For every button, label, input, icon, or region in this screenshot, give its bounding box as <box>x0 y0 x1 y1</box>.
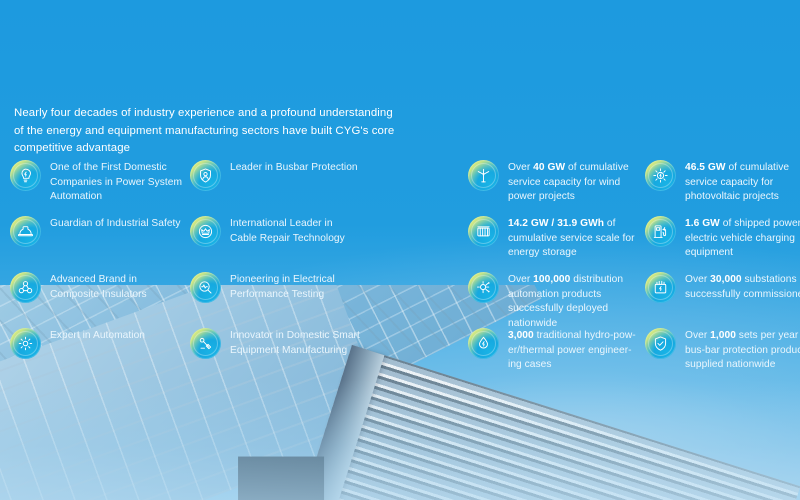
hydro-thermal-power-icon <box>468 328 499 359</box>
feature-item[interactable]: Pioneering in ElectricalPerformance Test… <box>190 272 370 328</box>
magnifier-waveform-icon <box>190 272 221 303</box>
feature-item[interactable]: 46.5 GW of cumulativeservice capacity fo… <box>645 160 800 216</box>
feature-item-label: 1.6 GW of shipped power forelectric vehi… <box>685 216 800 261</box>
intro-line-2: of the energy and equipment manufacturin… <box>14 123 364 141</box>
feature-item[interactable]: Over 40 GW of cumulativeservice capacity… <box>468 160 643 216</box>
feature-item-label: Over 1,000 sets per year ofbus-bar prote… <box>685 328 800 373</box>
energy-storage-icon <box>468 216 499 247</box>
robot-arm-icon <box>190 328 221 359</box>
feature-item-label: One of the First DomesticCompanies in Po… <box>50 160 182 205</box>
ev-charging-icon <box>645 216 676 247</box>
feature-item-label: 3,000 traditional hydro-pow-er/thermal p… <box>508 328 636 373</box>
intro-line-3: competitive advantage <box>14 140 364 158</box>
feature-item[interactable]: 3,000 traditional hydro-pow-er/thermal p… <box>468 328 643 384</box>
feature-item-label: Over 40 GW of cumulativeservice capacity… <box>508 160 629 205</box>
feature-item-label: 46.5 GW of cumulativeservice capacity fo… <box>685 160 789 205</box>
feature-item-label: 14.2 GW / 31.9 GWh ofcumulative service … <box>508 216 635 261</box>
distribution-automation-icon <box>468 272 499 303</box>
feature-item-label: Leader in Busbar Protection <box>230 160 358 176</box>
wind-turbine-icon <box>468 160 499 191</box>
feature-item[interactable]: Over 30,000 substationssuccessfully comm… <box>645 272 800 328</box>
composite-insulator-icon <box>10 272 41 303</box>
power-system-automation-icon <box>10 160 41 191</box>
feature-column-stats-left: Over 40 GW of cumulativeservice capacity… <box>468 160 643 384</box>
photovoltaic-sun-icon <box>645 160 676 191</box>
feature-column-credentials-left: One of the First DomesticCompanies in Po… <box>10 160 190 384</box>
feature-item-label: Guardian of Industrial Safety <box>50 216 181 232</box>
busbar-protection-icon <box>190 160 221 191</box>
feature-item-label: Innovator in Domestic SmartEquipment Man… <box>230 328 360 358</box>
feature-column-stats-right: 46.5 GW of cumulativeservice capacity fo… <box>645 160 800 384</box>
feature-item-label: Over 30,000 substationssuccessfully comm… <box>685 272 800 302</box>
feature-item[interactable]: Advanced Brand inComposite Insulators <box>10 272 190 328</box>
feature-item[interactable]: Guardian of Industrial Safety <box>10 216 190 272</box>
substation-icon <box>645 272 676 303</box>
feature-item[interactable]: Over 1,000 sets per year ofbus-bar prote… <box>645 328 800 384</box>
intro-line-1: Nearly four decades of industry experien… <box>14 105 364 123</box>
feature-item[interactable]: 14.2 GW / 31.9 GWh ofcumulative service … <box>468 216 643 272</box>
feature-item[interactable]: Leader in Busbar Protection <box>190 160 370 216</box>
feature-item[interactable]: Over 100,000 distributionautomation prod… <box>468 272 643 328</box>
feature-item[interactable]: Expert in Automation <box>10 328 190 384</box>
feature-item-label: International Leader inCable Repair Tech… <box>230 216 345 246</box>
atmospheric-haze <box>0 380 800 500</box>
infographic-canvas: Nearly four decades of industry experien… <box>0 0 800 500</box>
feature-item[interactable]: International Leader inCable Repair Tech… <box>190 216 370 272</box>
crown-cable-repair-icon <box>190 216 221 247</box>
feature-columns: One of the First DomesticCompanies in Po… <box>0 160 800 390</box>
feature-item-label: Expert in Automation <box>50 328 145 344</box>
feature-item[interactable]: Innovator in Domestic SmartEquipment Man… <box>190 328 370 384</box>
feature-item[interactable]: 1.6 GW of shipped power forelectric vehi… <box>645 216 800 272</box>
shield-check-icon <box>645 328 676 359</box>
hard-hat-safety-icon <box>10 216 41 247</box>
feature-item-label: Over 100,000 distributionautomation prod… <box>508 272 623 331</box>
feature-item[interactable]: One of the First DomesticCompanies in Po… <box>10 160 190 216</box>
gear-automation-icon <box>10 328 41 359</box>
feature-item-label: Advanced Brand inComposite Insulators <box>50 272 147 302</box>
feature-item-label: Pioneering in ElectricalPerformance Test… <box>230 272 335 302</box>
feature-column-credentials-right: Leader in Busbar ProtectionInternational… <box>190 160 370 384</box>
intro-paragraph: Nearly four decades of industry experien… <box>14 105 364 158</box>
